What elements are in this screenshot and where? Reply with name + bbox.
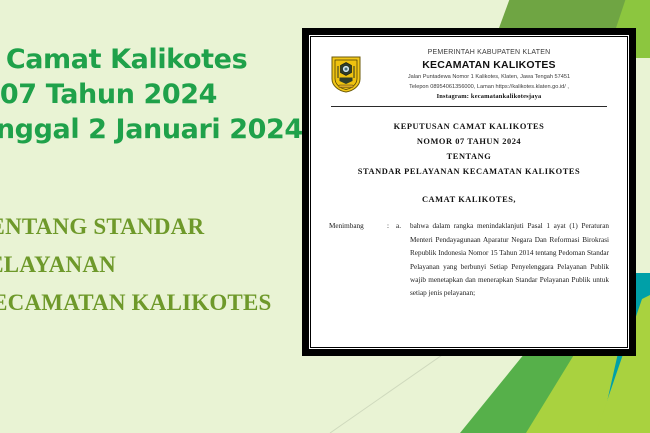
considerations-colon: :: [387, 220, 396, 300]
government-line: PEMERINTAH KABUPATEN KLATEN: [369, 49, 609, 58]
document-inner-border: PEMERINTAH KABUPATEN KLATEN KECAMATAN KA…: [309, 35, 629, 349]
slide-subheading: TENTANG STANDAR PELAYANAN KECAMATAN KALI…: [0, 208, 304, 322]
letterhead: PEMERINTAH KABUPATEN KLATEN KECAMATAN KA…: [329, 49, 609, 100]
kabupaten-klaten-emblem-icon: [331, 56, 361, 93]
decree-title-line-2: NOMOR 07 TAHUN 2024: [329, 134, 609, 149]
slide-canvas: n Camat Kalikotes r 07 Tahun 2024 anggal…: [0, 0, 650, 433]
heading-line-3: anggal 2 Januari 2024: [0, 112, 278, 147]
address-line-1: Jalan Puntadewa Nomor 1 Kalikotes, Klate…: [369, 73, 609, 81]
decree-title-block: KEPUTUSAN CAMAT KALIKOTES NOMOR 07 TAHUN…: [329, 119, 609, 179]
letterhead-divider: [331, 106, 607, 107]
decree-title-line-1: KEPUTUSAN CAMAT KALIKOTES: [329, 119, 609, 134]
instagram-line: Instagram: kecamatankalikotesjaya: [369, 93, 609, 101]
heading-line-1: n Camat Kalikotes: [0, 42, 278, 77]
heading-line-2: r 07 Tahun 2024: [0, 77, 278, 112]
considerations-row: Menimbang : a. bahwa dalam rangka menind…: [329, 220, 609, 300]
subheading-line-1: TENTANG STANDAR: [0, 208, 304, 246]
subheading-line-2: PELAYANAN: [0, 246, 304, 284]
slide-heading: n Camat Kalikotes r 07 Tahun 2024 anggal…: [0, 42, 278, 147]
document-page: PEMERINTAH KABUPATEN KLATEN KECAMATAN KA…: [311, 37, 627, 347]
subheading-line-3: KECAMATAN KALIKOTES: [0, 284, 304, 322]
considerations-label: Menimbang: [329, 220, 387, 300]
considerations-letter: a.: [396, 220, 410, 300]
letterhead-text: PEMERINTAH KABUPATEN KLATEN KECAMATAN KA…: [369, 49, 609, 100]
office-line: KECAMATAN KALIKOTES: [369, 59, 609, 72]
logo-wrapper: [329, 56, 363, 93]
decree-title-line-4: STANDAR PELAYANAN KECAMATAN KALIKOTES: [329, 164, 609, 179]
considerations-body: bahwa dalam rangka menindaklanjuti Pasal…: [410, 220, 609, 300]
decree-title-line-3: TENTANG: [329, 149, 609, 164]
address-line-2: Telepon 08954061356000, Laman https://ka…: [369, 83, 609, 91]
signatory-heading: CAMAT KALIKOTES,: [329, 195, 609, 204]
document-frame: PEMERINTAH KABUPATEN KLATEN KECAMATAN KA…: [302, 28, 636, 356]
